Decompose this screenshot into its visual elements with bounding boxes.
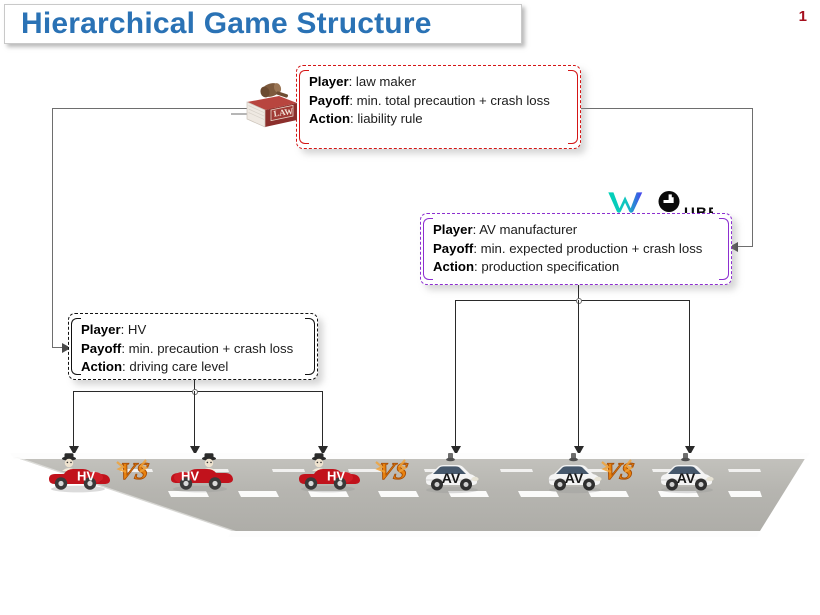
law-maker-action-row: Action: liability rule xyxy=(309,110,570,129)
lidar-sensor-icon xyxy=(681,453,690,461)
hv-car-2-label: HV xyxy=(181,469,199,484)
law-maker-player-row: Player: law maker xyxy=(309,73,570,92)
av-payoff-row: Payoff: min. expected production + crash… xyxy=(433,240,721,259)
player-value: : law maker xyxy=(349,74,416,89)
human-vehicle-node-text: Player: HV Payoff: min. precaution + cra… xyxy=(69,314,317,383)
action-value: : production specification xyxy=(474,259,619,274)
av-distribution-bus xyxy=(455,300,690,301)
av-manufacturer-node[interactable]: Player: AV manufacturer Payoff: min. exp… xyxy=(420,213,732,285)
page-title-box: Hierarchical Game Structure xyxy=(4,4,522,44)
action-label: Action xyxy=(81,359,122,374)
driver-figure xyxy=(202,453,216,471)
hv-action-row: Action: driving care level xyxy=(81,358,307,377)
player-value: : AV manufacturer xyxy=(473,222,578,237)
player-label: Player xyxy=(81,322,121,337)
payoff-value: : min. expected production + crash loss xyxy=(473,241,702,256)
lidar-sensor-icon xyxy=(446,453,455,461)
payoff-value: : min. precaution + crash loss xyxy=(121,341,293,356)
av-car-3-label: AV xyxy=(677,470,696,486)
lidar-sensor-icon xyxy=(569,453,578,461)
page-number: 1 xyxy=(799,9,807,24)
versus-marker-1: VS xyxy=(113,454,155,488)
road-scene: HV HV xyxy=(0,447,820,557)
av-branch-1 xyxy=(455,300,456,448)
law-maker-node-text: Player: law maker Payoff: min. total pre… xyxy=(297,66,580,135)
hv-distribution-bus xyxy=(73,391,323,392)
action-value: : liability rule xyxy=(350,111,423,126)
hv-car-2[interactable]: HV xyxy=(167,452,233,494)
slide-canvas: Hierarchical Game Structure 1 Player: la… xyxy=(0,0,820,615)
payoff-label: Payoff xyxy=(309,93,349,108)
action-label: Action xyxy=(433,259,474,274)
connector-lawmaker-right-horizontal xyxy=(581,108,753,109)
law-book-gavel-icon: LAW xyxy=(231,80,301,132)
av-branch-3 xyxy=(689,300,690,448)
hv-car-3-label: HV xyxy=(327,469,345,484)
law-maker-payoff-row: Payoff: min. total precaution + crash lo… xyxy=(309,92,570,111)
hv-branch-1 xyxy=(73,391,74,448)
player-label: Player xyxy=(309,74,349,89)
av-car-1-label: AV xyxy=(442,470,461,486)
av-action-row: Action: production specification xyxy=(433,258,721,277)
av-car-1[interactable]: AV xyxy=(420,453,484,495)
versus-marker-3: VS xyxy=(598,454,640,488)
connector-to-av-horizontal xyxy=(738,246,753,247)
driver-figure xyxy=(312,453,326,471)
av-player-row: Player: AV manufacturer xyxy=(433,221,721,240)
versus-marker-2: VS xyxy=(372,454,414,488)
versus-marker-3-label: VS xyxy=(601,458,636,485)
action-value: : driving care level xyxy=(122,359,228,374)
av-manufacturer-node-text: Player: AV manufacturer Payoff: min. exp… xyxy=(421,214,731,283)
driver-figure xyxy=(62,453,76,471)
action-label: Action xyxy=(309,111,350,126)
av-car-2-label: AV xyxy=(565,470,584,486)
player-label: Player xyxy=(433,222,473,237)
payoff-label: Payoff xyxy=(433,241,473,256)
connector-lawmaker-right-vertical xyxy=(752,108,753,247)
payoff-label: Payoff xyxy=(81,341,121,356)
hv-car-1-label: HV xyxy=(77,469,95,484)
hv-payoff-row: Payoff: min. precaution + crash loss xyxy=(81,340,307,359)
payoff-value: : min. total precaution + crash loss xyxy=(349,93,549,108)
hv-car-3[interactable]: HV xyxy=(295,452,361,494)
hv-branch-3 xyxy=(322,391,323,448)
connector-lawmaker-left-vertical xyxy=(52,108,53,348)
human-vehicle-node[interactable]: Player: HV Payoff: min. precaution + cra… xyxy=(68,313,318,380)
hv-car-1[interactable]: HV xyxy=(45,452,111,494)
versus-marker-2-label: VS xyxy=(375,458,410,485)
av-car-3[interactable]: AV xyxy=(655,453,719,495)
law-maker-node[interactable]: Player: law maker Payoff: min. total pre… xyxy=(296,65,581,149)
player-value: : HV xyxy=(121,322,147,337)
hv-player-row: Player: HV xyxy=(81,321,307,340)
av-branch-2 xyxy=(578,300,579,448)
page-title: Hierarchical Game Structure xyxy=(5,9,432,39)
hv-branch-2 xyxy=(194,391,195,448)
versus-marker-1-label: VS xyxy=(116,458,151,485)
